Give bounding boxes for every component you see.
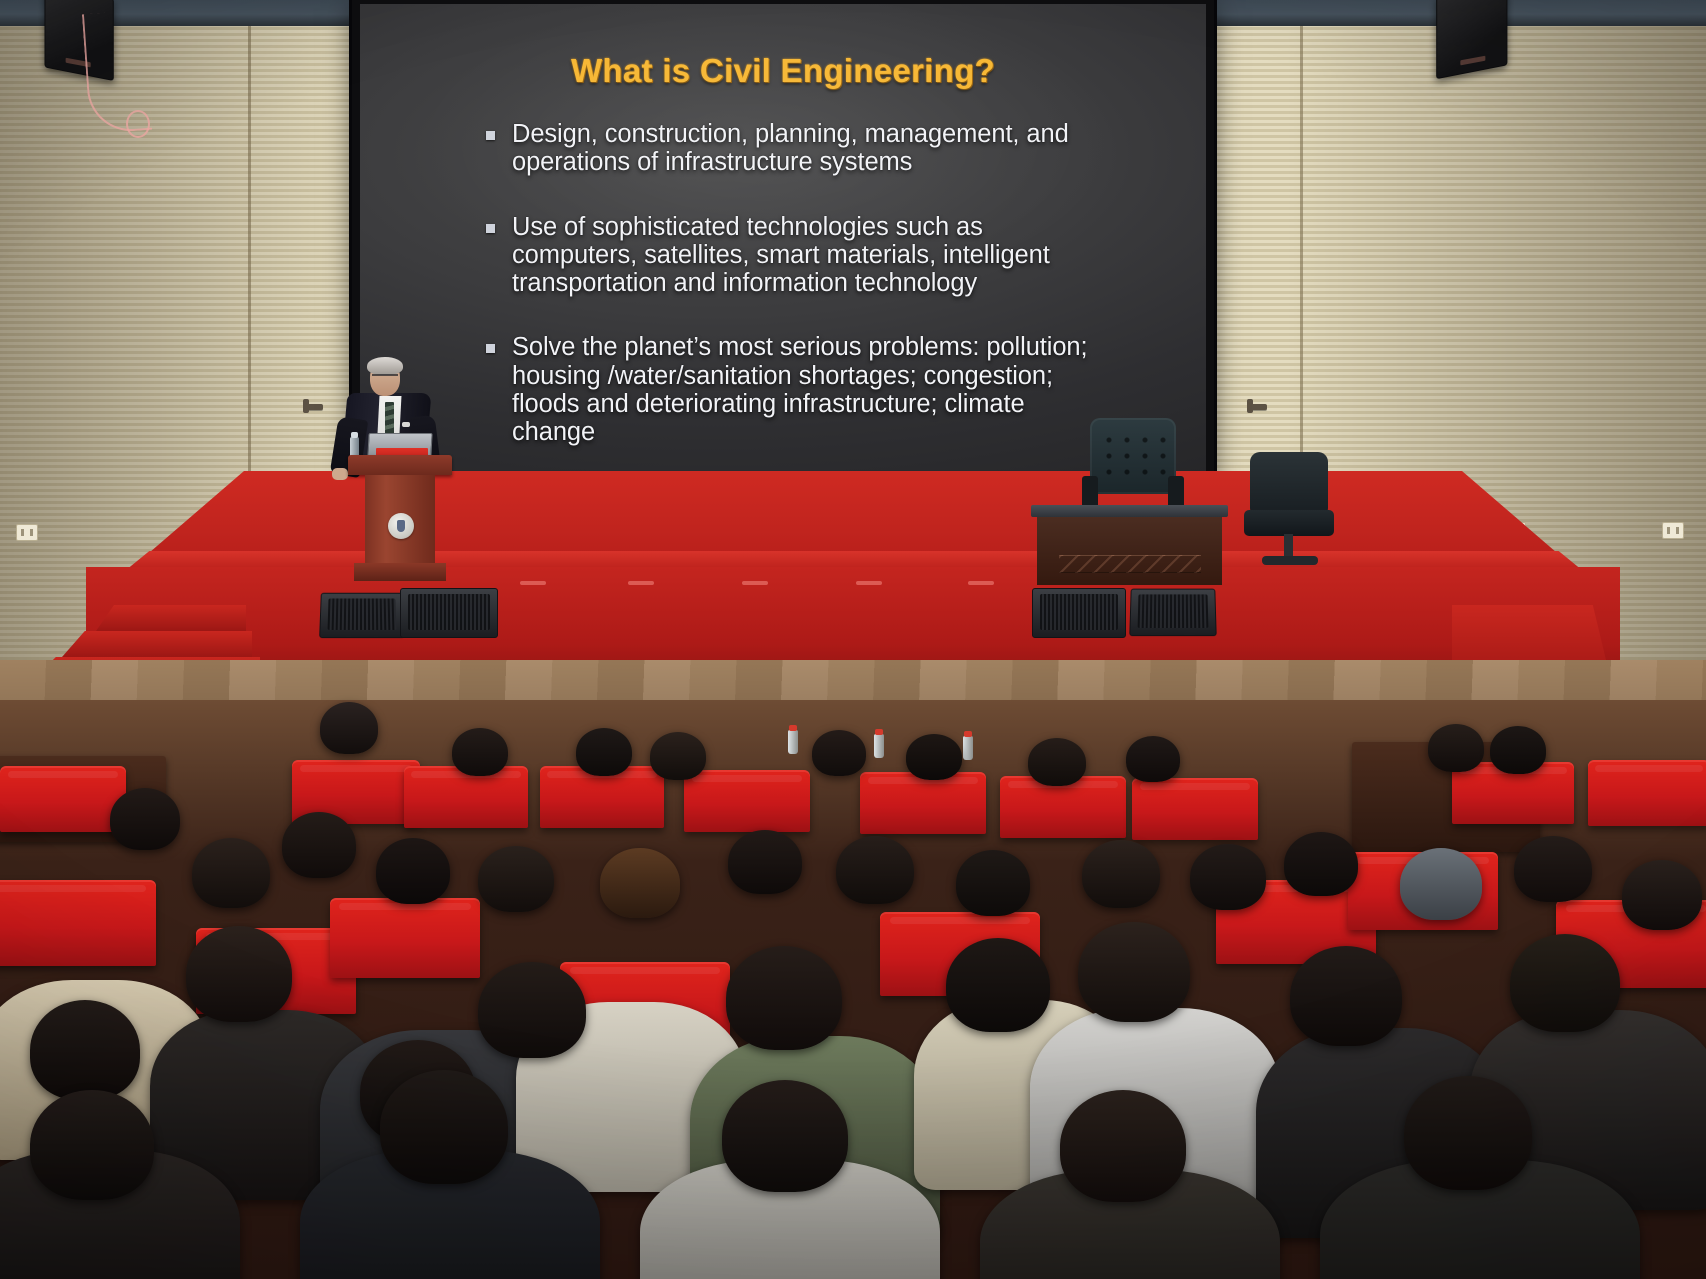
audience-head [1510,934,1620,1032]
audience-head [1126,736,1180,782]
floor-monitor-speaker [1129,589,1216,637]
bottle-cap [964,731,972,737]
office-chair [1244,452,1332,572]
desk-panel-detail [1059,555,1201,573]
microphone-cable-loop [126,110,150,138]
handle-stem [1247,399,1253,413]
audience-head [1078,922,1190,1022]
audience-head [30,1090,154,1200]
audience-head [956,850,1030,916]
chair-base [1262,556,1318,565]
seat-back [1132,778,1258,840]
bottle-cap [351,432,358,438]
audience-head [192,838,270,908]
audience-head [478,846,554,912]
speaker-grille [328,599,397,630]
door-handle-right-icon[interactable] [1247,404,1267,410]
water-bottle [963,736,973,760]
handle-stem [303,399,309,413]
lecture-hall-scene: What is Civil Engineering? Design, const… [0,0,1706,1279]
door-handle-left-icon[interactable] [303,404,323,410]
seat-back [404,766,528,828]
speaker-badge [1460,56,1485,66]
audience-head [650,732,706,780]
slide-bullet-2-text: Use of sophisticated technologies such a… [512,213,1050,298]
audience-head [452,728,508,776]
slide-bullet-1-text: Design, construction, planning, manageme… [512,120,1069,176]
stage-floor-mark [628,581,654,585]
presenter-hand-left [332,468,348,480]
floor-monitor-speaker [1032,588,1126,638]
audience-head [1082,840,1160,908]
slide-bullet-3: Solve the planet’s most serious problems… [512,333,1112,446]
floor-monitor-speaker [400,588,498,638]
chair-seat [1244,510,1334,536]
audience-head [380,1070,508,1184]
slide-bullet-3-text: Solve the planet’s most serious problems… [512,333,1087,446]
audience-head [600,848,680,918]
seat-back [0,766,126,832]
audience-head [30,1000,140,1100]
audience-head [320,702,378,754]
audience-head [726,946,842,1050]
stage-floor-mark [968,581,994,585]
bullet-square-icon [486,344,495,353]
audience-head [946,938,1050,1032]
speaker-grille [1138,594,1209,628]
desk-body [1037,517,1222,585]
stage-floor-mark [742,581,768,585]
presenter-hair [367,357,403,375]
speaker-grille [1040,594,1118,630]
screen-surface: What is Civil Engineering? Design, const… [360,4,1206,472]
slide-title: What is Civil Engineering? [394,52,1172,90]
bullet-square-icon [486,224,495,233]
audience-head [1028,738,1086,786]
water-bottle [874,734,884,758]
floor-monitor-speaker [319,593,405,638]
seat-back [1588,760,1706,826]
audience-head [1190,844,1266,910]
emblem-inner [397,520,405,532]
audience-head [186,926,292,1022]
audience-head [1060,1090,1186,1202]
side-desk [1037,505,1222,585]
projection-screen: What is Civil Engineering? Design, const… [352,0,1214,480]
seat-back [684,770,810,832]
stage-step [62,631,252,657]
audience-head [1404,1076,1532,1190]
audience-head [1622,860,1702,930]
audience-head [1490,726,1546,774]
presentation-slide: What is Civil Engineering? Design, const… [360,4,1206,472]
university-emblem-icon [388,513,414,539]
audience-head [576,728,632,776]
audience-head [1284,832,1358,896]
audience-head [1290,946,1402,1046]
eyeglasses-icon [372,374,398,382]
audience-head [812,730,866,776]
slide-bullet-2: Use of sophisticated technologies such a… [512,213,1112,298]
chair-post [1284,534,1293,558]
stage-step [96,605,246,631]
audience-head [836,836,914,904]
stage-floor-mark [856,581,882,585]
seat-back [0,880,156,966]
seat-back [860,772,986,834]
bottle-cap [875,729,883,735]
chair-tufting [1100,432,1166,478]
audience-head [110,788,180,850]
slide-bullet-1: Design, construction, planning, manageme… [512,120,1112,177]
audience-head [1514,836,1592,902]
water-bottle [788,730,798,754]
podium [348,455,452,581]
audience-head [478,962,586,1058]
audience-head [906,734,962,780]
slide-bullet-list: Design, construction, planning, manageme… [394,120,1172,447]
podium-top [348,455,452,475]
audience-head [376,838,450,904]
podium-base [354,563,446,581]
audience-head [722,1080,848,1192]
audience-head [282,812,356,878]
speaker-grille [408,594,490,630]
audience-head [1400,848,1482,920]
bottle-cap [789,725,797,731]
lapel-microphone-icon [402,422,410,427]
stage-floor-mark [520,581,546,585]
desk-top [1031,505,1228,517]
audience-head [728,830,802,894]
bullet-square-icon [486,131,495,140]
chair-back [1250,452,1328,518]
audience-head [1428,724,1484,772]
seat-back [330,898,480,978]
executive-chair [1090,418,1176,510]
chair-armrest [1168,476,1184,508]
chair-armrest [1082,476,1098,508]
